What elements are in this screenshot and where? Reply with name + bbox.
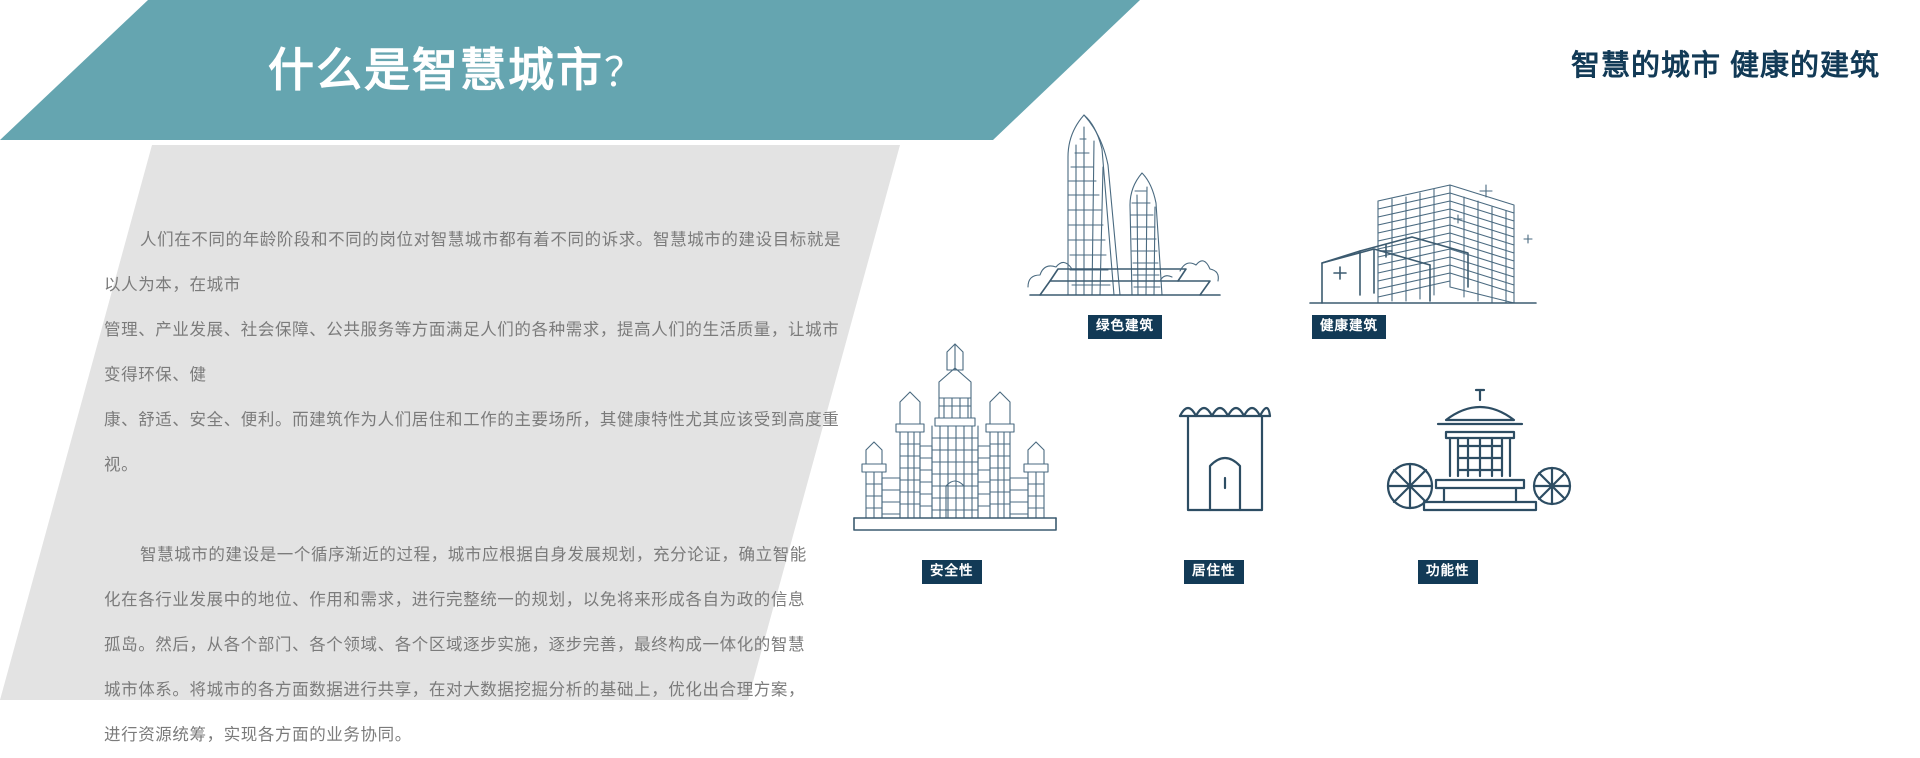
paragraph-1: 人们在不同的年龄阶段和不同的岗位对智慧城市都有着不同的诉求。智慧城市的建设目标就… [104,218,844,488]
p2-line-1: 智慧城市的建设是一个循序渐近的过程，城市应根据自身发展规划，充分论证，确立智能 [140,546,807,564]
illustration-group: 绿色建筑 [840,95,1920,655]
badge-green-building: 绿色建筑 [1088,315,1162,339]
p1-line-2: 管理、产业发展、社会保障、公共服务等方面满足人们的各种需求，提高人们的生活质量，… [104,321,839,384]
house-icon [1170,370,1280,530]
p2-line-2: 化在各行业发展中的地位、作用和需求，进行完整统一的规划，以免将来形成各自为政的信… [104,591,805,609]
p1-line-1: 人们在不同的年龄阶段和不同的岗位对智慧城市都有着不同的诉求。智慧城市的建设目标就… [104,231,841,294]
page-title-punct: ？ [604,51,646,95]
badge-functionality: 功能性 [1418,560,1478,584]
p1-line-3: 康、舒适、安全、便利。而建筑作为人们居住和工作的主要场所，其健康特性尤其应该受到… [104,411,839,474]
badge-security: 安全性 [922,560,982,584]
p2-line-3: 孤岛。然后，从各个部门、各个领域、各个区域逐步实施，逐步完善，最终构成一体化的智… [104,636,805,654]
castle-icon [840,340,1070,550]
paragraph-2: 智慧城市的建设是一个循序渐近的过程，城市应根据自身发展规划，充分论证，确立智能 … [104,533,844,758]
p2-line-4: 城市体系。将城市的各方面数据进行共享，在对大数据挖掘分析的基础上，优化出合理方案… [104,681,805,699]
page-title: 什么是智慧城市？ [268,47,646,93]
pavilion-icon [1380,380,1580,520]
header-right-heading: 智慧的城市 健康的建筑 [1571,42,1880,84]
badge-health-building: 健康建筑 [1312,315,1386,339]
slide-root: 什么是智慧城市？ 智慧的城市 健康的建筑 人们在不同的年龄阶段和不同的岗位对智慧… [0,0,1920,700]
badge-livability: 居住性 [1184,560,1244,584]
page-title-text: 什么是智慧城市 [268,44,604,96]
body-text: 人们在不同的年龄阶段和不同的岗位对智慧城市都有着不同的诉求。智慧城市的建设目标就… [104,218,844,758]
hospital-building-icon [1300,175,1550,315]
twisted-towers-icon [1010,95,1240,310]
p2-line-5: 进行资源统筹，实现各方面的业务协同。 [104,726,412,744]
